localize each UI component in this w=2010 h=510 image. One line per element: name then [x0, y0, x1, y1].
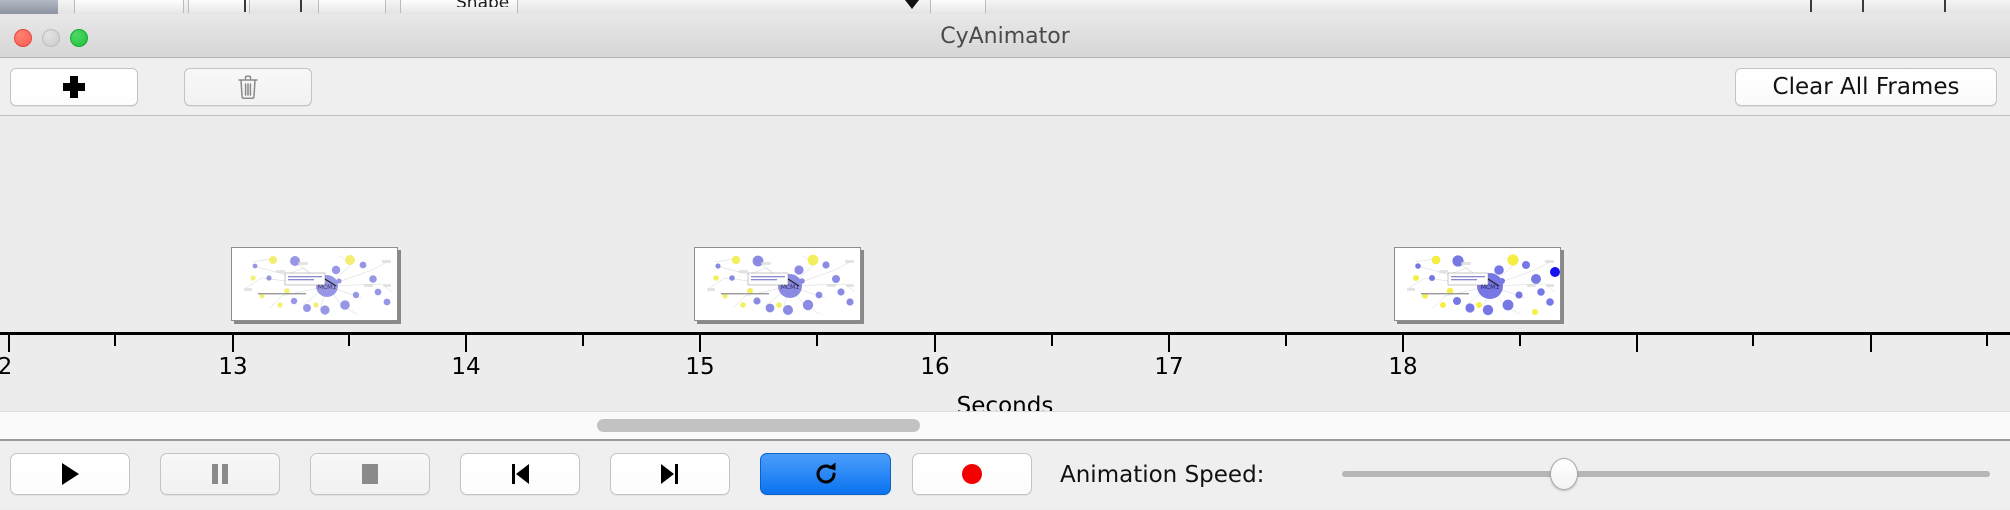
cyanimator-window: CyAnimator Clear All Frames [0, 14, 2010, 510]
axis-tick-label: 2 [0, 354, 45, 380]
background-tick [1862, 0, 1864, 12]
add-frame-button[interactable] [10, 68, 138, 106]
network-graph-thumbnail: MCM1 [1395, 248, 1560, 320]
slider-thumb[interactable] [1550, 458, 1578, 490]
axis-tick-minor [1519, 335, 1521, 346]
background-tick [244, 0, 246, 12]
axis-tick-major [465, 335, 467, 352]
background-tab [74, 0, 184, 13]
network-graph-thumbnail: MCM1 [695, 248, 860, 320]
timeline-frame[interactable]: MCM1 [694, 247, 861, 321]
clear-all-frames-label: Clear All Frames [1773, 74, 1960, 100]
background-tab [930, 0, 986, 13]
axis-title: Seconds [0, 393, 2010, 411]
toolbar: Clear All Frames [0, 58, 2010, 116]
axis-tick-major [1402, 335, 1404, 352]
network-graph-thumbnail: MCM1 [232, 248, 397, 320]
timeline-axis [0, 332, 2010, 335]
axis-tick-minor [114, 335, 116, 346]
axis-tick-major [1870, 335, 1872, 352]
axis-tick-label: 17 [1129, 354, 1209, 380]
background-tab [318, 0, 386, 13]
axis-tick-major [8, 335, 10, 352]
skip-back-icon [509, 462, 531, 486]
delete-frame-button[interactable] [184, 68, 312, 106]
axis-tick-major [699, 335, 701, 352]
axis-tick-label: 14 [426, 354, 506, 380]
axis-tick-minor [348, 335, 350, 346]
loop-button[interactable] [760, 453, 891, 495]
axis-tick-label: 13 [193, 354, 273, 380]
animation-speed-label: Animation Speed: [1060, 462, 1264, 488]
loop-icon [813, 461, 839, 487]
axis-tick-major [934, 335, 936, 352]
background-window-strip: Shape [0, 0, 2010, 14]
axis-tick-minor [1285, 335, 1287, 346]
background-window-label: Shape [456, 0, 509, 7]
background-tick [1944, 0, 1946, 12]
previous-frame-button[interactable] [460, 453, 580, 495]
axis-tick-minor [582, 335, 584, 346]
transport-bar: Animation Speed: [0, 441, 2010, 509]
background-tick [300, 0, 302, 12]
record-button[interactable] [912, 453, 1032, 495]
skip-forward-icon [659, 462, 681, 486]
record-icon [959, 461, 985, 487]
axis-tick-label: 18 [1363, 354, 1443, 380]
background-tick [1810, 0, 1812, 12]
axis-tick-minor [1051, 335, 1053, 346]
next-frame-button[interactable] [610, 453, 730, 495]
background-tab [188, 0, 250, 13]
plus-icon [63, 76, 85, 98]
pause-icon [210, 462, 230, 486]
svg-text:MCM1: MCM1 [781, 284, 800, 291]
timeline-panel[interactable]: MCM1 [0, 116, 2010, 411]
timeline-frame[interactable]: MCM1 [231, 247, 398, 321]
axis-tick-major [1168, 335, 1170, 352]
svg-text:MCM1: MCM1 [1481, 284, 1500, 291]
clear-all-frames-button[interactable]: Clear All Frames [1735, 68, 1997, 106]
axis-tick-major [232, 335, 234, 352]
stop-icon [360, 463, 380, 485]
animation-speed-slider[interactable] [1342, 453, 1990, 495]
background-block [0, 0, 58, 14]
axis-tick-minor [816, 335, 818, 346]
timeline-frame[interactable]: MCM1 [1394, 247, 1561, 321]
background-caret-icon [905, 0, 919, 9]
pause-button[interactable] [160, 453, 280, 495]
play-button[interactable] [10, 453, 130, 495]
title-bar: CyAnimator [0, 14, 2010, 58]
timeline-scrollbar[interactable] [0, 411, 2010, 441]
axis-tick-minor [1752, 335, 1754, 346]
svg-text:MCM1: MCM1 [318, 284, 337, 291]
window-title: CyAnimator [0, 24, 2010, 49]
axis-tick-label: 15 [660, 354, 740, 380]
trash-icon [237, 74, 259, 100]
slider-track [1342, 471, 1990, 477]
axis-tick-minor [1986, 335, 1988, 346]
stop-button[interactable] [310, 453, 430, 495]
axis-tick-major [1636, 335, 1638, 352]
scrollbar-thumb[interactable] [597, 419, 920, 432]
play-icon [59, 462, 81, 486]
axis-tick-label: 16 [895, 354, 975, 380]
